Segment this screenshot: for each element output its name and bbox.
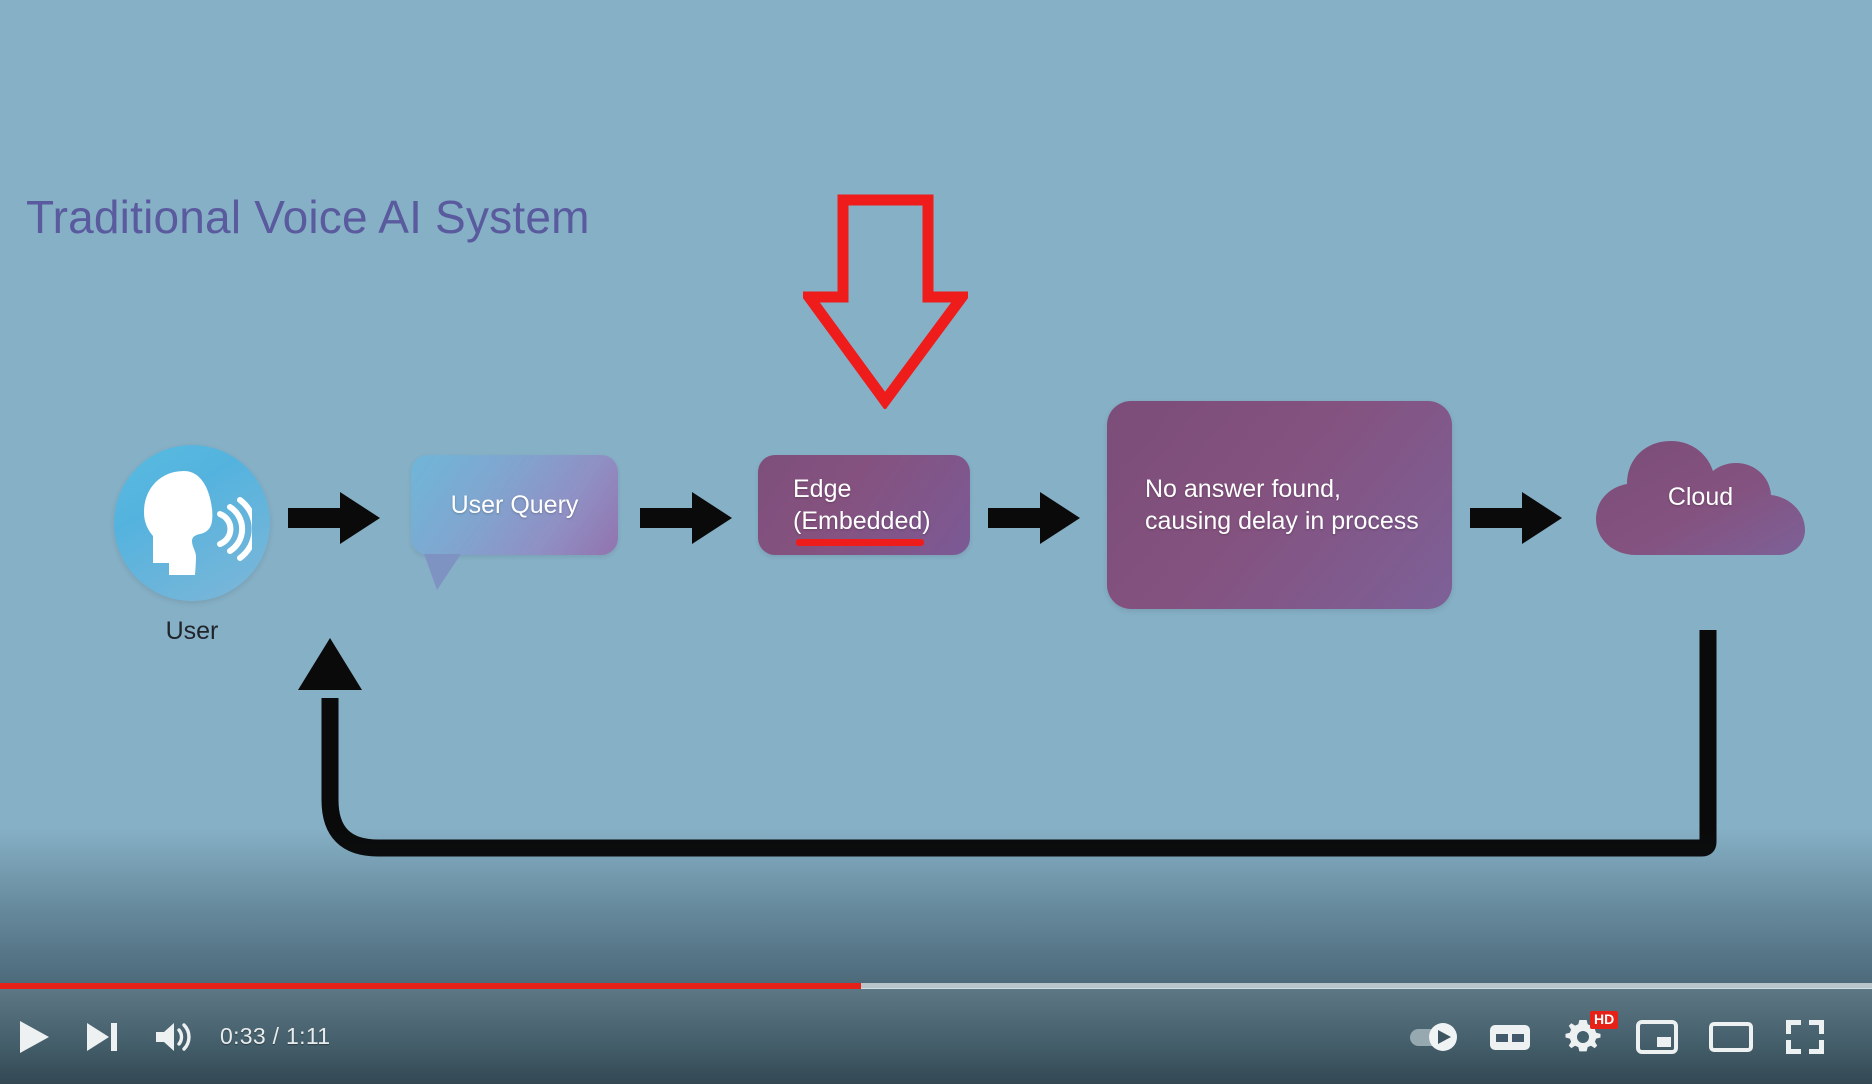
flow-arrow-3 [988,490,1080,546]
page-title: Traditional Voice AI System [26,190,590,244]
player-controls[interactable]: 0:33 / 1:11 [0,989,1872,1084]
node-user: User [114,445,270,601]
user-avatar-circle [114,445,270,601]
fullscreen-icon [1785,1019,1825,1055]
controls-left-group: 0:33 / 1:11 [0,989,330,1084]
closed-captions-icon [1489,1021,1531,1053]
autoplay-toggle[interactable] [1396,989,1474,1084]
settings-button[interactable]: HD [1546,989,1620,1084]
red-underline [796,539,924,546]
fullscreen-button[interactable] [1768,989,1842,1084]
flow-arrow-1 [288,490,380,546]
node-cloud: Cloud [1594,440,1807,555]
node-edge-line2: (Embedded) [793,505,970,537]
controls-right-group: HD [1396,989,1872,1084]
speaking-head-icon [132,467,252,579]
video-stage[interactable]: Traditional Voice AI System User [0,0,1872,1036]
miniplayer-icon [1636,1020,1678,1054]
node-user-query-label: User Query [451,489,579,521]
hd-quality-badge: HD [1590,1011,1618,1029]
play-button[interactable] [6,989,62,1084]
node-no-answer-line1: No answer found, [1145,473,1452,505]
node-no-answer: No answer found, causing delay in proces… [1107,401,1452,609]
volume-button[interactable] [144,989,204,1084]
red-down-arrow-icon [803,194,968,409]
autoplay-icon [1409,1022,1461,1052]
node-cloud-label: Cloud [1594,483,1807,512]
node-edge-line1: Edge [793,473,970,505]
time-display: 0:33 / 1:11 [220,1023,330,1050]
next-icon [86,1022,118,1052]
miniplayer-button[interactable] [1620,989,1694,1084]
theater-icon [1709,1020,1753,1054]
captions-button[interactable] [1474,989,1546,1084]
node-user-query: User Query [411,455,618,585]
node-no-answer-line2: causing delay in process [1145,505,1452,537]
theater-mode-button[interactable] [1694,989,1768,1084]
flow-arrow-4 [1470,490,1562,546]
next-video-button[interactable] [74,989,130,1084]
feedback-loop-arrow [140,620,1760,870]
video-player[interactable]: Traditional Voice AI System User [0,0,1872,1084]
flow-arrow-2 [640,490,732,546]
user-query-bubble: User Query [411,455,618,555]
bubble-tail [424,554,461,590]
play-icon [18,1020,50,1054]
volume-icon [154,1021,194,1053]
